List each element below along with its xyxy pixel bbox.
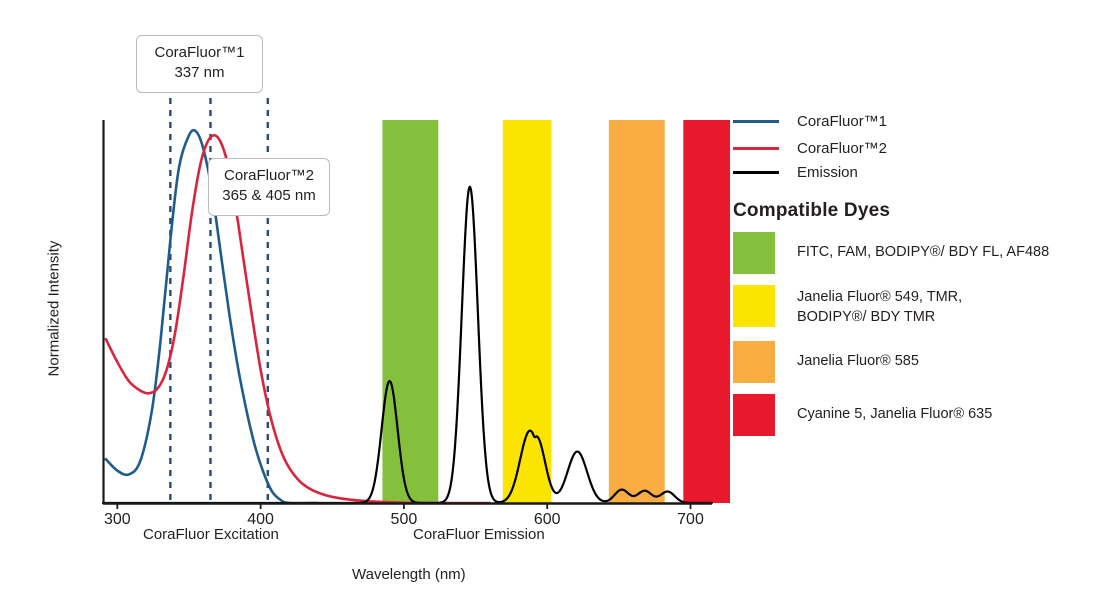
legend-swatch-emission [733,171,779,174]
dye-label-yellow: Janelia Fluor® 549, TMR, BODIPY®/ BDY TM… [797,285,962,328]
dye-label-orange: Janelia Fluor® 585 [797,341,919,371]
legend-item-emission: Emission [733,164,858,181]
dye-label-red: Cyanine 5, Janelia Fluor® 635 [797,394,992,424]
yellow-band [503,120,552,503]
callout-corafluor2-line1: CoraFluor™2 [221,166,317,186]
dye-swatch-green [733,232,775,274]
callout-corafluor1-line1: CoraFluor™1 [149,43,250,63]
legend-swatch-corafluor1 [733,120,779,123]
legend-label-corafluor1: CoraFluor™1 [797,113,887,130]
y-axis-label: Normalized Intensity [46,229,63,389]
x-tick-label-300: 300 [99,511,135,529]
dye-swatch-red [733,394,775,436]
callout-corafluor1: CoraFluor™1 337 nm [136,35,263,93]
dye-label-green: FITC, FAM, BODIPY®/ BDY FL, AF488 [797,232,1049,262]
legend-label-emission: Emission [797,164,858,181]
band-group [382,120,730,503]
dye-row-red: Cyanine 5, Janelia Fluor® 635 [733,394,992,436]
dye-row-green: FITC, FAM, BODIPY®/ BDY FL, AF488 [733,232,1049,274]
legend-panel: CoraFluor™1 CoraFluor™2 Emission Compati… [730,0,1110,612]
green-band [382,120,438,503]
dye-row-yellow: Janelia Fluor® 549, TMR, BODIPY®/ BDY TM… [733,285,962,328]
dye-swatch-yellow [733,285,775,327]
dye-swatch-orange [733,341,775,383]
chart-page: Normalized Intensity Wavelength (nm) Cor… [0,0,1110,612]
emission-region-label: CoraFluor Emission [413,526,545,543]
x-axis-label: Wavelength (nm) [352,566,466,583]
legend-item-corafluor1: CoraFluor™1 [733,113,887,130]
legend-label-corafluor2: CoraFluor™2 [797,140,887,157]
compatible-dyes-title: Compatible Dyes [733,200,890,222]
callout-corafluor1-line2: 337 nm [149,63,250,83]
dye-row-orange: Janelia Fluor® 585 [733,341,919,383]
legend-item-corafluor2: CoraFluor™2 [733,140,887,157]
callout-corafluor2: CoraFluor™2 365 & 405 nm [208,158,330,216]
x-tick-label-700: 700 [673,511,709,529]
x-tick-label-500: 500 [386,511,422,529]
x-tick-label-600: 600 [529,511,565,529]
x-tick-label-400: 400 [243,511,279,529]
red-band [683,120,730,503]
plot-area: Normalized Intensity Wavelength (nm) Cor… [0,0,730,612]
legend-swatch-corafluor2 [733,147,779,150]
orange-band [609,120,665,503]
callout-corafluor2-line2: 365 & 405 nm [221,186,317,206]
